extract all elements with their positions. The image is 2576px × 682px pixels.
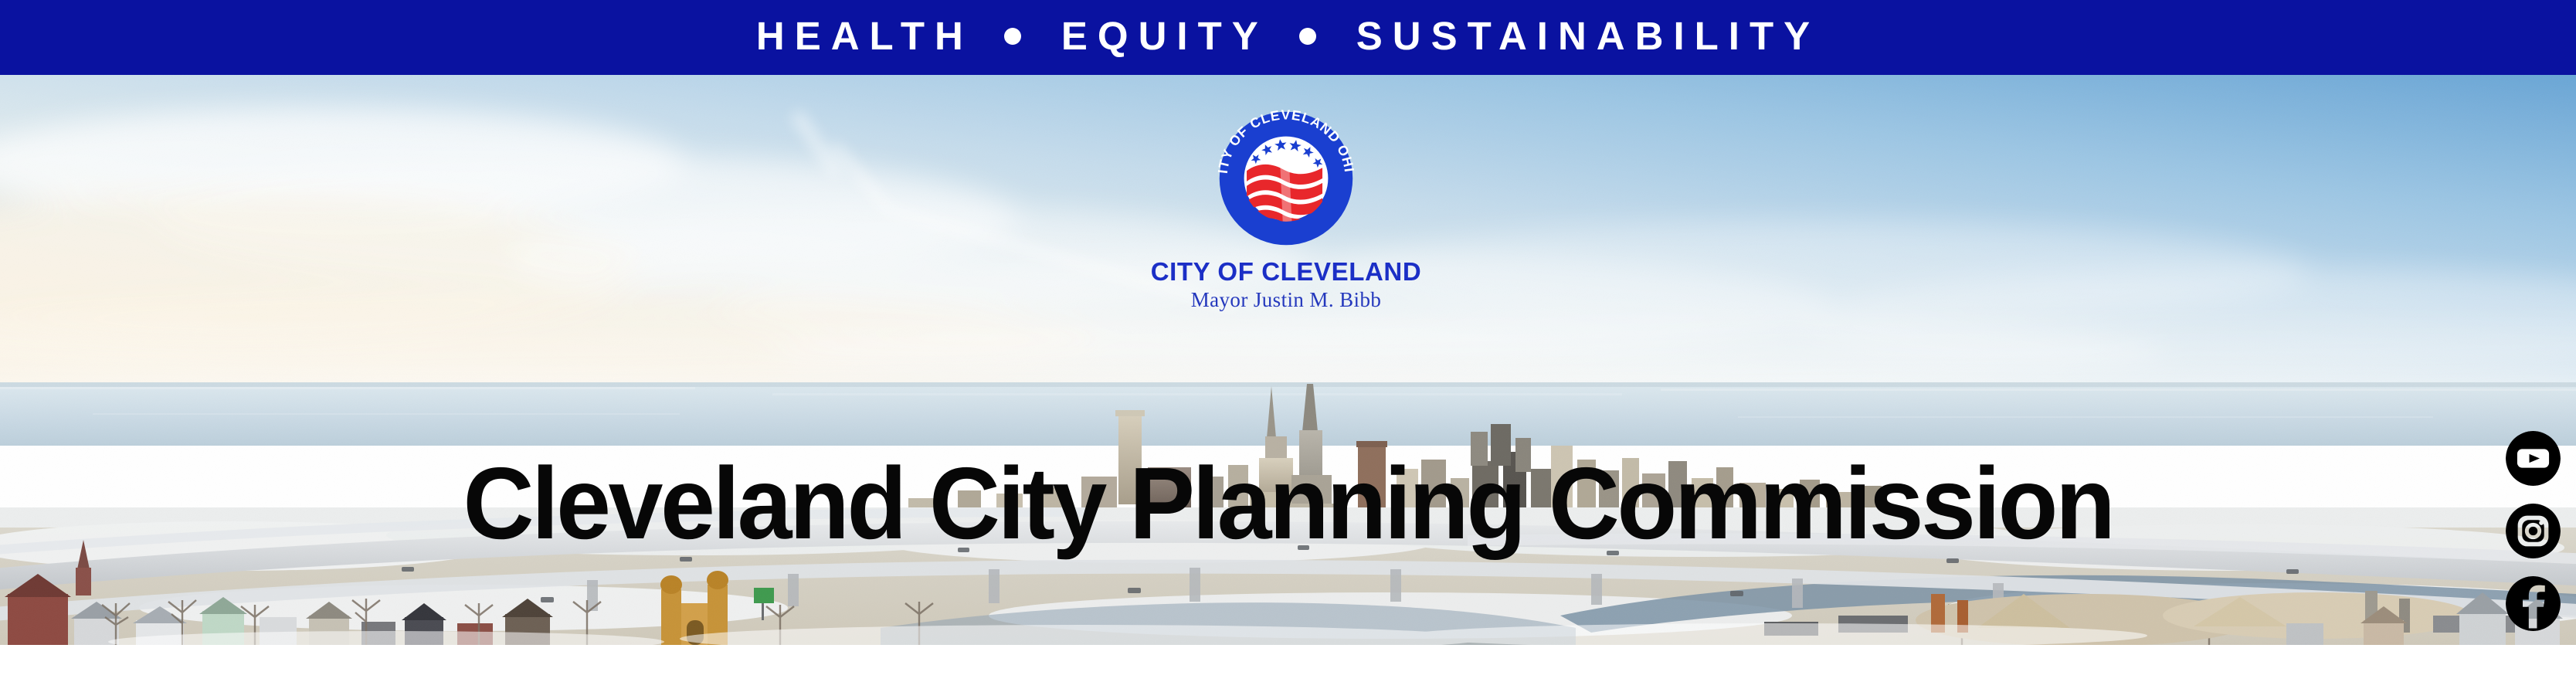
youtube-link[interactable]	[2506, 431, 2561, 486]
city-name-label: CITY OF CLEVELAND	[1066, 259, 1506, 286]
tagline-inner: HEALTH EQUITY SUSTAINABILITY	[756, 16, 1820, 56]
social-media-rail	[2503, 431, 2562, 631]
youtube-icon	[2506, 431, 2561, 486]
facebook-link[interactable]	[2506, 576, 2561, 631]
facebook-icon	[2506, 576, 2561, 631]
tagline-word-equity: EQUITY	[1061, 16, 1268, 56]
instagram-link[interactable]	[2506, 504, 2561, 558]
city-of-cleveland-seal: CITY OF CLEVELAND OHIO	[1210, 103, 1362, 254]
mayor-name-label: Mayor Justin M. Bibb	[1066, 289, 1506, 310]
bullet-dot-icon-1	[1004, 28, 1021, 45]
page-root: HEALTH EQUITY SUSTAINABILITY	[0, 0, 2576, 682]
bullet-dot-icon-2	[1299, 28, 1316, 45]
bottom-white-strip	[0, 645, 2576, 682]
page-title: Cleveland City Planning Commission	[45, 453, 2530, 555]
tagline-word-sustainability: SUSTAINABILITY	[1356, 16, 1820, 56]
instagram-icon	[2506, 504, 2561, 558]
tagline-word-health: HEALTH	[756, 16, 973, 56]
tagline-banner: HEALTH EQUITY SUSTAINABILITY	[0, 0, 2576, 75]
city-branding-block[interactable]: CITY OF CLEVELAND OHIO	[1066, 103, 1506, 310]
